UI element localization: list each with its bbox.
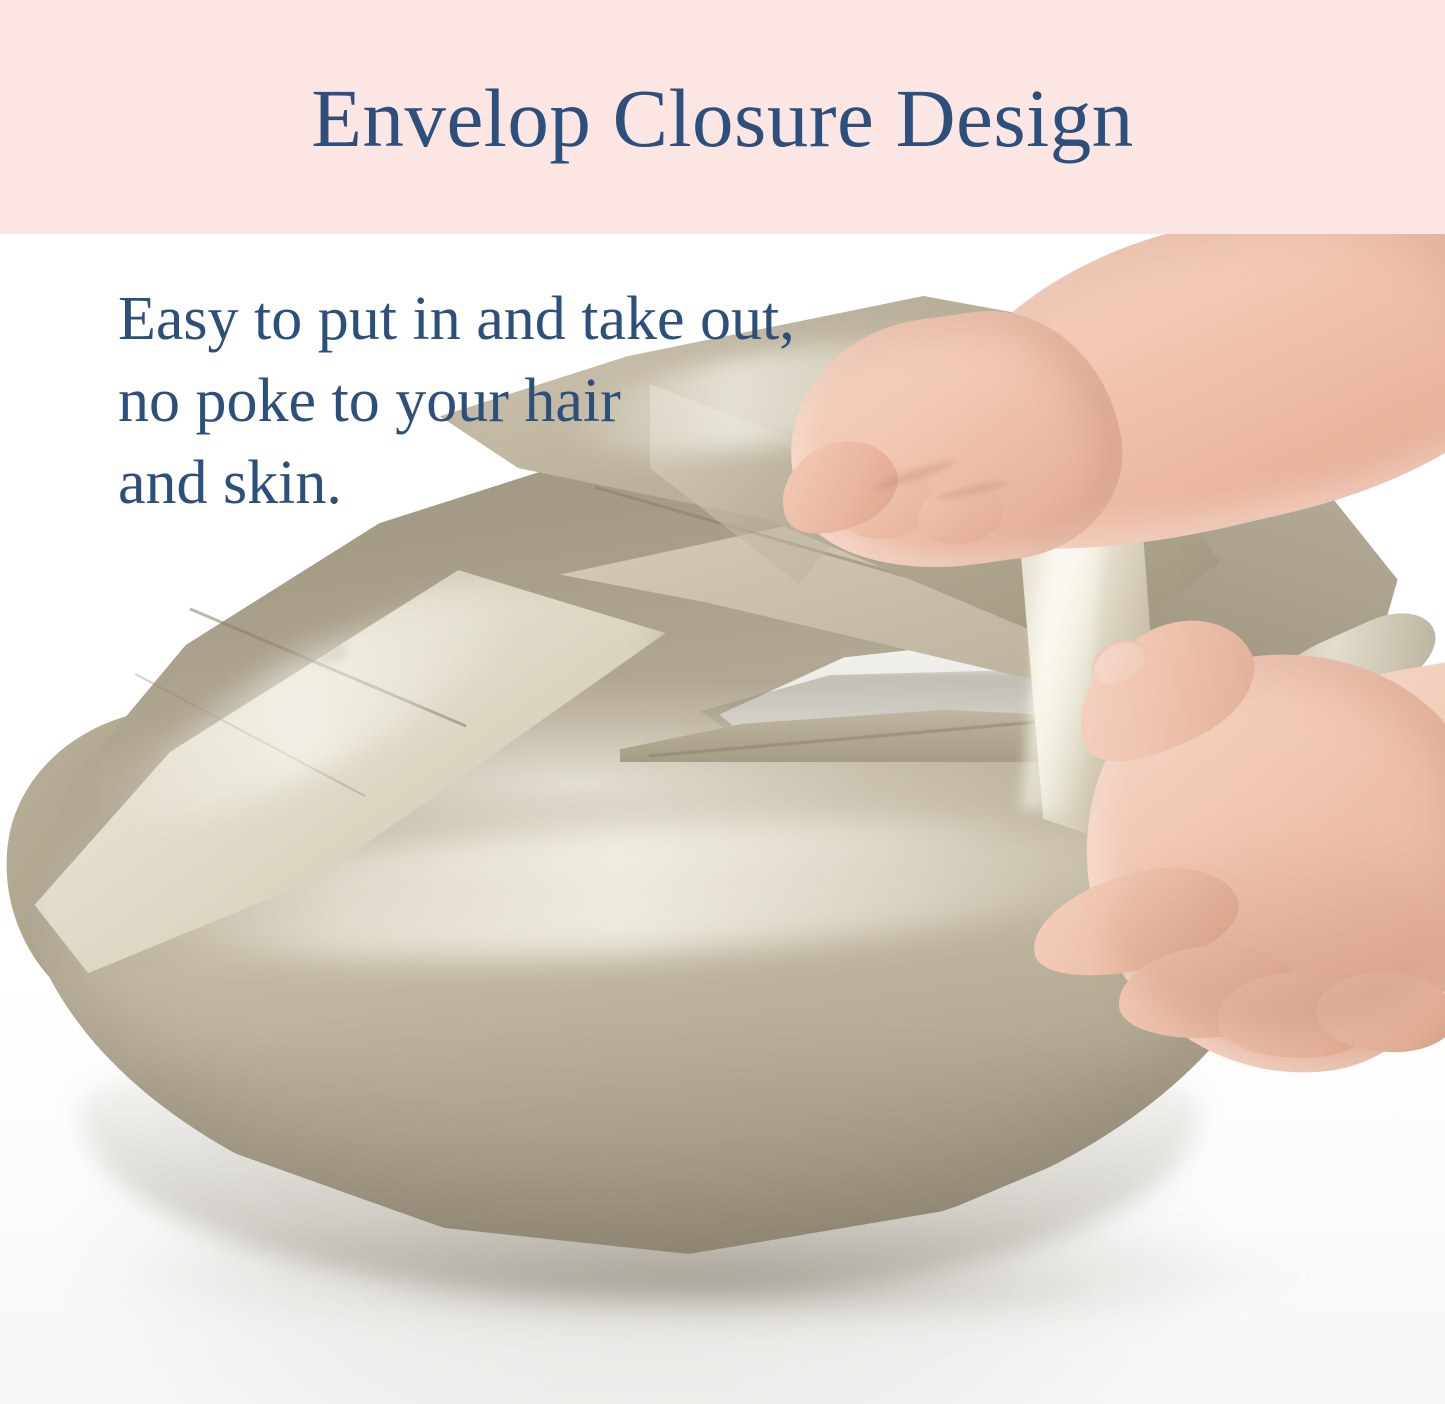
copy-line-1: Easy to put in and take out,: [118, 278, 938, 360]
header-band: Envelop Closure Design: [0, 0, 1445, 234]
copy-line-3: and skin.: [118, 442, 938, 524]
page-title: Envelop Closure Design: [0, 72, 1445, 164]
lower-hand-shading: [1110, 834, 1440, 1034]
feature-description: Easy to put in and take out, no poke to …: [118, 278, 938, 524]
copy-line-2: no poke to your hair: [118, 360, 938, 442]
marketing-infographic: Envelop Closure Design Easy to put in an…: [0, 0, 1445, 1404]
